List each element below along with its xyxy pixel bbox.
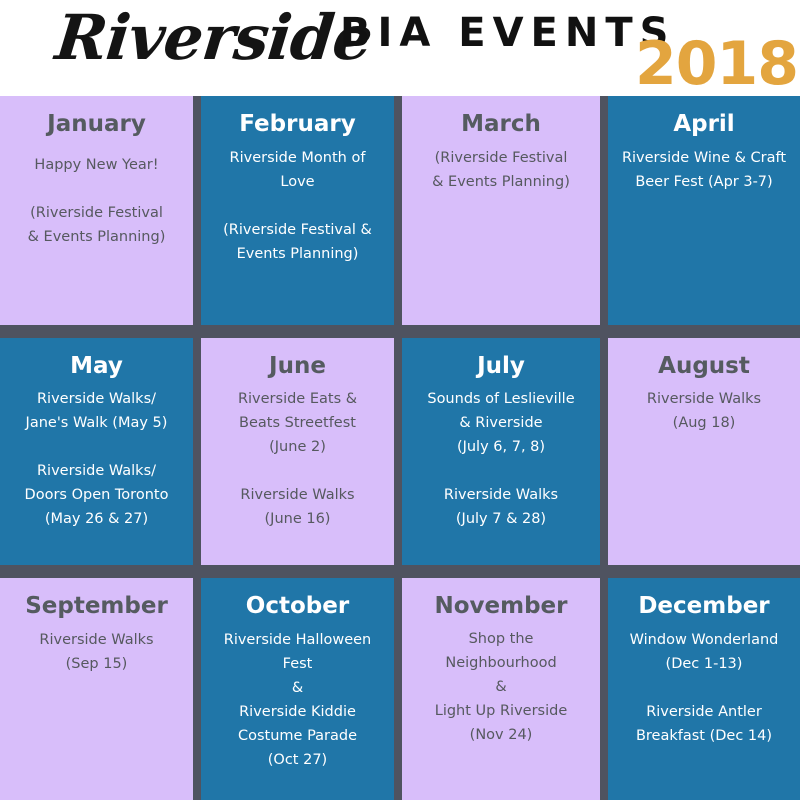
year-label: 2018: [635, 33, 798, 95]
month-cell-october: OctoberRiverside Halloween Fest & Rivers…: [201, 578, 394, 800]
poster-header: Riverside BIA EVENTS 2018: [0, 0, 800, 96]
month-cell-july: JulySounds of Leslieville & Riverside (J…: [402, 338, 600, 565]
month-events: Riverside Eats & Beats Streetfest (June …: [210, 387, 385, 531]
month-events: Riverside Month of Love (Riverside Festi…: [210, 146, 385, 266]
month-cell-november: NovemberShop the Neighbourhood & Light U…: [402, 578, 600, 800]
month-events: Happy New Year! (Riverside Festival & Ev…: [9, 153, 184, 249]
month-events: Riverside Halloween Fest & Riverside Kid…: [210, 628, 385, 772]
month-events: (Riverside Festival & Events Planning): [411, 146, 591, 194]
month-events: Shop the Neighbourhood & Light Up Rivers…: [411, 627, 591, 747]
month-title: June: [210, 352, 385, 381]
month-title: October: [210, 592, 385, 621]
page-title: BIA EVENTS: [340, 8, 675, 58]
month-cell-august: AugustRiverside Walks (Aug 18): [608, 338, 800, 565]
month-cell-february: FebruaryRiverside Month of Love (Riversi…: [201, 96, 394, 325]
month-cell-june: JuneRiverside Eats & Beats Streetfest (J…: [201, 338, 394, 565]
month-cell-may: MayRiverside Walks/ Jane's Walk (May 5) …: [0, 338, 193, 565]
month-title: April: [617, 110, 791, 139]
month-title: August: [617, 352, 791, 381]
month-cell-january: JanuaryHappy New Year! (Riverside Festiv…: [0, 96, 193, 325]
month-cell-december: DecemberWindow Wonderland (Dec 1-13) Riv…: [608, 578, 800, 800]
month-events: Riverside Walks/ Jane's Walk (May 5) Riv…: [9, 387, 184, 531]
events-poster: Riverside BIA EVENTS 2018 JanuaryHappy N…: [0, 0, 800, 800]
month-title: February: [210, 110, 385, 139]
month-events: Riverside Wine & Craft Beer Fest (Apr 3-…: [617, 146, 791, 194]
month-title: September: [9, 592, 184, 621]
brand-wordmark: Riverside: [52, 2, 375, 74]
month-events: Riverside Walks (Sep 15): [9, 628, 184, 676]
calendar-grid: JanuaryHappy New Year! (Riverside Festiv…: [0, 96, 800, 800]
month-cell-april: AprilRiverside Wine & Craft Beer Fest (A…: [608, 96, 800, 325]
month-cell-september: SeptemberRiverside Walks (Sep 15): [0, 578, 193, 800]
month-title: December: [617, 592, 791, 621]
month-title: November: [411, 592, 591, 621]
month-title: March: [411, 110, 591, 139]
month-cell-march: March(Riverside Festival & Events Planni…: [402, 96, 600, 325]
month-events: Window Wonderland (Dec 1-13) Riverside A…: [617, 628, 791, 748]
month-events: Sounds of Leslieville & Riverside (July …: [411, 387, 591, 531]
month-title: July: [411, 352, 591, 381]
month-title: January: [9, 110, 184, 139]
month-title: May: [9, 352, 184, 381]
month-events: Riverside Walks (Aug 18): [617, 387, 791, 435]
